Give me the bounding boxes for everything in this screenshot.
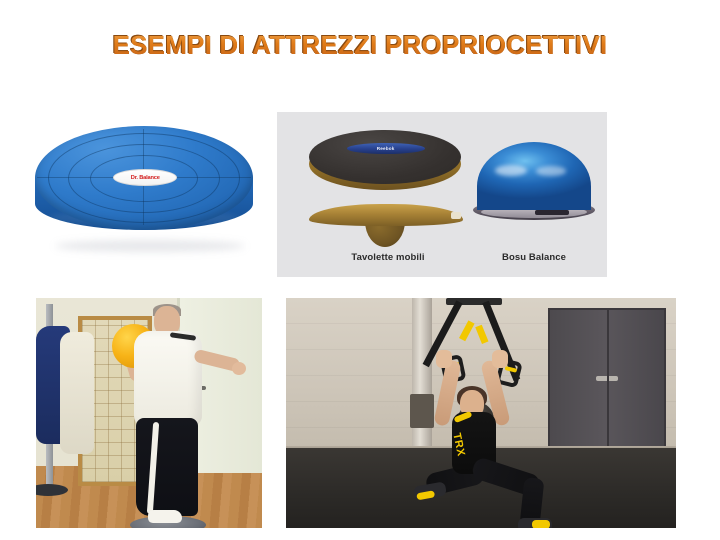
image-balance-disc: Dr. Balance bbox=[30, 108, 270, 280]
balance-disc-graphic: Dr. Balance bbox=[35, 126, 253, 256]
image-trx-suspension: TRX bbox=[286, 298, 676, 528]
slide: ESEMPI DI ATTREZZI PROPRIOCETTIVI Dr. Ba… bbox=[0, 0, 720, 540]
gym-door-handles bbox=[596, 376, 618, 381]
person-balancing bbox=[108, 306, 228, 528]
balance-disc-brand-label: Dr. Balance bbox=[113, 169, 177, 186]
person-track-pants bbox=[136, 418, 198, 516]
image-boards-panel: Reebok Tavolette mobili Bosu Balance bbox=[277, 112, 607, 277]
wobble-board-side-view bbox=[309, 204, 463, 244]
person-shoe bbox=[148, 510, 182, 523]
caption-wobble-board: Tavolette mobili bbox=[323, 252, 453, 263]
caption-bosu-balance: Bosu Balance bbox=[473, 252, 595, 263]
bosu-dome bbox=[477, 142, 591, 210]
athlete-right-hand bbox=[492, 350, 508, 368]
image-man-balance bbox=[36, 298, 262, 528]
balance-disc-shadow bbox=[55, 240, 245, 252]
wobble-board-tip bbox=[451, 212, 461, 219]
balance-disc-brand-text: Dr. Balance bbox=[131, 175, 160, 181]
wobble-board-brand-text: Reebok bbox=[377, 146, 395, 152]
balance-disc-top-face: Dr. Balance bbox=[35, 126, 253, 230]
wobble-board-plate bbox=[309, 204, 463, 226]
person-white-tshirt bbox=[134, 331, 202, 426]
athlete-left-hand bbox=[436, 350, 452, 368]
wobble-board-brand-label: Reebok bbox=[347, 143, 425, 154]
person-trx-athlete: TRX bbox=[426, 346, 556, 526]
gym-double-door bbox=[548, 308, 666, 448]
page-title: ESEMPI DI ATTREZZI PROPRIOCETTIVI bbox=[0, 30, 720, 61]
wobble-board-top-view: Reebok bbox=[309, 130, 461, 190]
wobble-board-surface bbox=[309, 130, 461, 184]
person-right-hand bbox=[232, 362, 246, 375]
bosu-balance-graphic bbox=[473, 142, 595, 226]
hanging-white-coat bbox=[60, 332, 94, 454]
athlete-front-shoe bbox=[518, 518, 552, 528]
bosu-base-slot bbox=[535, 210, 569, 215]
